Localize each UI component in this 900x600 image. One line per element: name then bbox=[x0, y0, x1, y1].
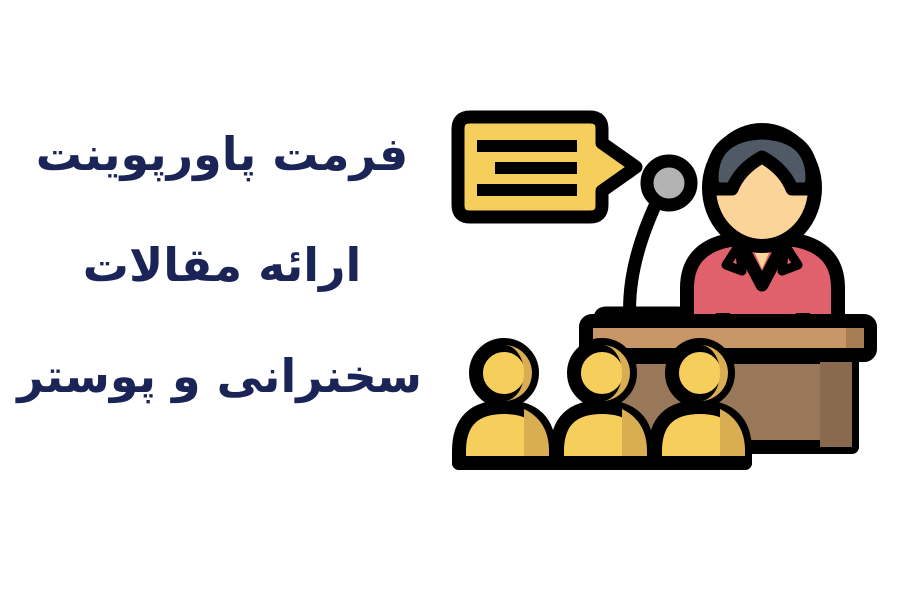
audience-baseline bbox=[452, 456, 752, 470]
speaker-figure bbox=[687, 130, 850, 337]
conference-speaker-illustration bbox=[440, 85, 890, 485]
headline-text-block: فرمت پاورپوینت ارائه مقالات سخنرانی و پو… bbox=[22, 130, 422, 400]
speech-bubble-line-2 bbox=[495, 162, 577, 174]
headline-line-1: فرمت پاورپوینت bbox=[22, 130, 428, 178]
microphone-head bbox=[647, 161, 691, 205]
illustration-svg bbox=[440, 85, 890, 485]
speech-bubble-line-3 bbox=[477, 184, 577, 196]
audience-group bbox=[452, 345, 752, 470]
headline-line-3: سخنرانی و پوستر bbox=[22, 352, 422, 400]
presentation-banner: فرمت پاورپوینت ارائه مقالات سخنرانی و پو… bbox=[0, 0, 900, 600]
speech-bubble-line-1 bbox=[477, 140, 577, 152]
audience-member-1 bbox=[459, 345, 549, 463]
headline-line-2: ارائه مقالات bbox=[22, 241, 440, 289]
podium-ledge-shadow bbox=[846, 328, 864, 348]
microphone-stand bbox=[630, 191, 662, 320]
speech-bubble-icon bbox=[458, 117, 636, 217]
podium-ledge bbox=[586, 321, 870, 355]
podium-body-shadow bbox=[820, 357, 852, 447]
